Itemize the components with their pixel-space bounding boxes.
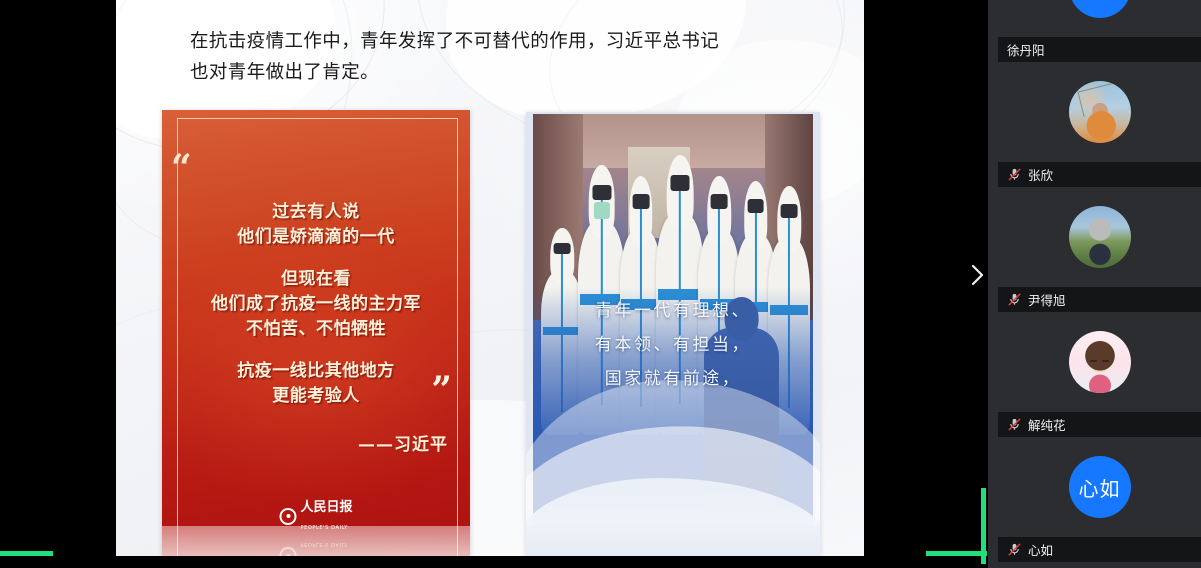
microphone-muted-icon [1007, 417, 1022, 432]
at-sign-icon-reflection [279, 548, 296, 557]
peoples-daily-logo-en-reflection: PEOPLE'S DAILY [300, 541, 347, 547]
participant-tile[interactable]: 张欣 [998, 62, 1201, 187]
participant-name: 张欣 [1028, 165, 1053, 184]
microphone-muted-icon [1007, 292, 1022, 307]
poster-blue-line: 青年一代有理想、 [533, 294, 813, 328]
participant-namebar: 心如 [998, 537, 1201, 562]
peoples-daily-logo-reflection: 人民日报 PEOPLE'S DAILY [279, 538, 352, 556]
peoples-daily-logo-cn: 人民日报 [300, 500, 352, 515]
participant-name: 尹得旭 [1028, 290, 1066, 309]
poster-red-line: 他们是娇滴滴的一代 [162, 225, 470, 250]
participant-namebar: 徐丹阳 [998, 37, 1201, 62]
participant-name: 心如 [1028, 540, 1053, 559]
avatar-artwork [1069, 206, 1131, 268]
poster-blue-line: 有本领、有担当， [533, 328, 813, 362]
poster-blue-footer [526, 526, 820, 556]
share-border-indicator-bottom-right [926, 551, 987, 556]
avatar: 心如 [998, 437, 1201, 537]
participant-name: 解纯花 [1028, 415, 1066, 434]
participant-tile[interactable]: 解纯花 [998, 312, 1201, 437]
poster-red-line: 不怕苦、不怕牺牲 [162, 317, 470, 342]
poster-red-line: 但现在看 [162, 267, 470, 292]
poster-red-line: 他们成了抗疫一线的主力军 [162, 292, 470, 317]
avatar [998, 187, 1201, 287]
microphone-muted-icon [1007, 167, 1022, 182]
poster-red-line: 抗疫一线比其他地方 [162, 359, 470, 384]
shared-screen-area[interactable]: 在抗击疫情工作中，青年发挥了不可替代的作用，习近平总书记 也对青年做出了肯定。 … [0, 0, 988, 568]
participant-tile[interactable]: 尹得旭 [998, 187, 1201, 312]
avatar [998, 62, 1201, 162]
avatar: 丹阳 [998, 0, 1201, 37]
avatar [998, 312, 1201, 412]
share-border-indicator-bottom-left [0, 551, 53, 556]
slide-body-text: 在抗击疫情工作中，青年发挥了不可替代的作用，习近平总书记 也对青年做出了肯定。 [190, 26, 810, 88]
avatar-initials: 心如 [1069, 456, 1131, 518]
avatar-photo [1069, 81, 1131, 143]
participant-tile[interactable]: 心如 心如 [998, 437, 1201, 562]
participant-list[interactable]: 丹阳 徐丹阳 [998, 0, 1201, 562]
poster-image-blue-medical: 青年一代有理想、 有本领、有担当， 国家就有前途， [526, 112, 820, 556]
participant-tile[interactable]: 丹阳 徐丹阳 [998, 0, 1201, 62]
poster-red-attribution: ——习近平 [358, 430, 448, 455]
participant-name: 徐丹阳 [1007, 40, 1045, 59]
microphone-muted-icon [1007, 542, 1022, 557]
poster-red-text-block: 过去有人说 他们是娇滴滴的一代 但现在看 他们成了抗疫一线的主力军 不怕苦、不怕… [162, 200, 470, 409]
next-page-button[interactable] [960, 258, 988, 292]
quote-close-icon: ” [431, 372, 452, 408]
quote-open-icon: “ [171, 150, 192, 186]
participant-namebar: 张欣 [998, 162, 1201, 187]
avatar-artwork [1069, 81, 1131, 143]
avatar-photo [1069, 206, 1131, 268]
participant-sidebar[interactable]: 丹阳 徐丹阳 [988, 0, 1201, 568]
presentation-slide[interactable]: 在抗击疫情工作中，青年发挥了不可替代的作用，习近平总书记 也对青年做出了肯定。 … [116, 0, 864, 556]
share-border-indicator-right [981, 488, 986, 564]
poster-blue-line: 国家就有前途， [533, 362, 813, 396]
chevron-right-icon [969, 263, 985, 287]
avatar-artwork [1069, 331, 1131, 393]
poster-red-line: 过去有人说 [162, 200, 470, 225]
meeting-screen-share-window: 在抗击疫情工作中，青年发挥了不可替代的作用，习近平总书记 也对青年做出了肯定。 … [0, 0, 1201, 568]
avatar-photo [1069, 331, 1131, 393]
participant-namebar: 解纯花 [998, 412, 1201, 437]
at-sign-icon [279, 508, 296, 525]
avatar-initials: 丹阳 [1069, 0, 1131, 18]
participant-namebar: 尹得旭 [998, 287, 1201, 312]
poster-image-red-quote: “ 过去有人说 他们是娇滴滴的一代 但现在看 他们成了抗疫一线的主力军 不怕苦、… [162, 110, 470, 556]
poster-blue-text-block: 青年一代有理想、 有本领、有担当， 国家就有前途， [533, 294, 813, 396]
poster-red-line: 更能考验人 [162, 384, 470, 409]
